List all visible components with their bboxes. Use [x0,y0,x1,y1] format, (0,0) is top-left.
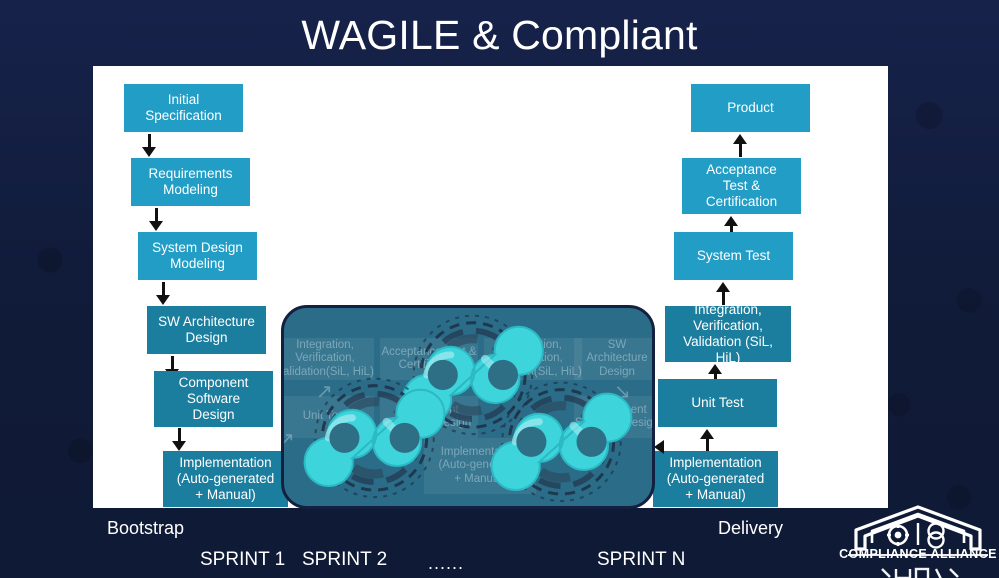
process-box-implementation-left[interactable]: Implementation (Auto-generated + Manual) [163,451,288,507]
label-delivery: Delivery [718,518,783,539]
interlocking-circles-icon [929,524,944,548]
process-box-component-software-design[interactable]: Component Software Design [154,371,273,427]
label-sprint-ellipsis: ...... [428,553,464,574]
page-title: WAGILE & Compliant [0,6,999,64]
label-bootstrap: Bootstrap [107,518,184,539]
process-box-requirements-modeling[interactable]: Requirements Modeling [131,158,250,206]
label-sprint-1: SPRINT 1 [200,549,285,571]
label-sprint-2: SPRINT 2 [302,549,387,571]
logo-text: COMPLIANCE ALLIANCE [838,547,998,561]
infinity-loop-group [284,308,652,509]
process-box-integration-verification-validation[interactable]: Integration, Verification, Validation (S… [665,306,791,362]
label-sprint-n: SPRINT N [597,549,685,571]
process-box-unit-test[interactable]: Unit Test [658,379,777,427]
house-outline-icon [838,503,998,578]
compliance-alliance-logo: COMPLIANCE ALLIANCE [838,503,998,578]
process-box-initial-specification[interactable]: Initial Specification [124,84,243,132]
process-box-implementation-right[interactable]: Implementation (Auto-generated + Manual) [653,451,778,507]
process-box-sw-architecture-design[interactable]: SW Architecture Design [147,306,266,354]
process-box-product[interactable]: Product [691,84,810,132]
process-box-system-design-modeling[interactable]: System Design Modeling [138,232,257,280]
process-box-acceptance-test-certification[interactable]: Acceptance Test & Certification [682,158,801,214]
sprint-loop-overlay-panel[interactable]: Integration, Verification, Validation(Si… [281,305,655,509]
process-box-system-test[interactable]: System Test [674,232,793,280]
